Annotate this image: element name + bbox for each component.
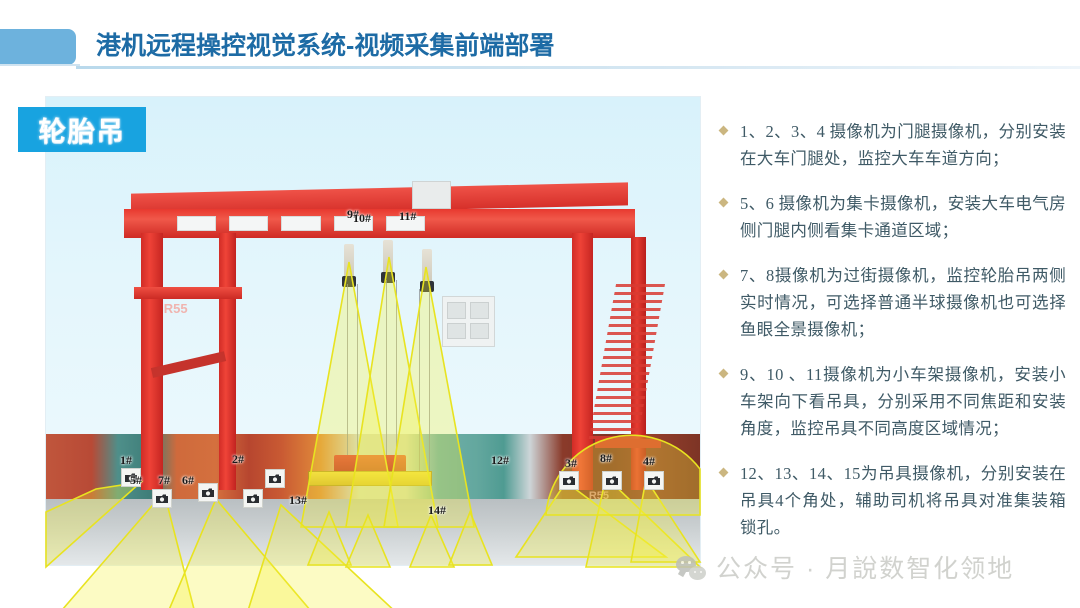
header-rule-left <box>0 64 80 66</box>
crane-machine-house <box>412 181 451 209</box>
page-title: 港机远程操控视觉系统-视频采集前端部署 <box>96 26 554 62</box>
list-item-text: 5、6 摄像机为集卡摄像机，安装大车电气房侧门腿内侧看集卡通道区域； <box>740 194 1066 240</box>
camera-description-list: 1、2、3、4 摄像机为门腿摄像机，分别安装在大车门腿处，监控大车车道方向； 5… <box>714 118 1066 559</box>
camera-label-3: 3# <box>565 456 577 471</box>
slide-header: 港机远程操控视觉系统-视频采集前端部署 <box>0 0 1080 80</box>
crane-photo-panel: R55 R55 <box>46 97 700 565</box>
bullet-diamond-icon <box>719 126 729 136</box>
equipment-type-badge: 轮胎吊 <box>18 107 146 152</box>
crane-marking-label-2: R55 <box>589 490 609 502</box>
list-item-text: 7、8摄像机为过街摄像机，监控轮胎吊两侧实时情况，可选择普通半球摄像机也可选择鱼… <box>740 266 1066 339</box>
camera-label-10: 10# <box>353 211 371 226</box>
slide-root: 港机远程操控视觉系统-视频采集前端部署 <box>0 0 1080 608</box>
watermark: 公众号 · 月說数智化领地 <box>676 549 1014 585</box>
camera-label-1: 1# <box>120 453 132 468</box>
camera-label-5: 5# <box>130 473 142 488</box>
list-item-text: 9、10 、11摄像机为小车架摄像机，安装小车架向下看吊具，分别采用不同焦距和安… <box>740 365 1066 438</box>
bullet-diamond-icon <box>719 198 729 208</box>
crane-marking-label: R55 <box>164 301 188 316</box>
girder-window <box>229 216 268 231</box>
list-item-text: 1、2、3、4 摄像机为门腿摄像机，分别安装在大车门腿处，监控大车车道方向； <box>740 122 1066 168</box>
wechat-icon <box>676 554 706 580</box>
camera-label-2: 2# <box>232 452 244 467</box>
girder-window <box>281 216 320 231</box>
crane-photo-scene: R55 R55 <box>46 97 700 565</box>
list-item: 9、10 、11摄像机为小车架摄像机，安装小车架向下看吊具，分别采用不同焦距和安… <box>714 361 1066 442</box>
camera-label-6: 6# <box>182 473 194 488</box>
trolley-camera-11 <box>422 249 432 283</box>
equipment-type-label: 轮胎吊 <box>39 110 126 149</box>
bullet-diamond-icon <box>719 369 729 379</box>
camera-label-13: 13# <box>289 493 307 508</box>
list-item: 5、6 摄像机为集卡摄像机，安装大车电气房侧门腿内侧看集卡通道区域； <box>714 190 1066 244</box>
spreader-beam <box>308 471 432 486</box>
header-accent-tab <box>0 29 76 65</box>
camera-label-14: 14# <box>428 503 446 518</box>
watermark-text: 公众号 · 月說数智化领地 <box>716 549 1014 585</box>
bullet-diamond-icon <box>719 468 729 478</box>
camera-label-4: 4# <box>643 454 655 469</box>
camera-label-7: 7# <box>158 473 170 488</box>
camera-label-12: 12# <box>491 453 509 468</box>
header-rule <box>76 66 1080 69</box>
camera-label-8: 8# <box>600 451 612 466</box>
girder-window <box>177 216 216 231</box>
bullet-diamond-icon <box>719 270 729 280</box>
camera-label-11: 11# <box>399 209 416 224</box>
crane-left-leg <box>141 233 163 490</box>
crane-electrical-house <box>442 296 496 347</box>
list-item: 12、13、14、15为吊具摄像机，分别安装在吊具4个角处，辅助司机将吊具对准集… <box>714 460 1066 541</box>
crane-platform <box>595 439 660 448</box>
crane-right-leg <box>572 233 593 490</box>
trolley-camera-10 <box>383 240 393 274</box>
list-item: 7、8摄像机为过街摄像机，监控轮胎吊两侧实时情况，可选择普通半球摄像机也可选择鱼… <box>714 262 1066 343</box>
trolley-camera-9 <box>344 244 354 278</box>
list-item: 1、2、3、4 摄像机为门腿摄像机，分别安装在大车门腿处，监控大车车道方向； <box>714 118 1066 172</box>
list-item-text: 12、13、14、15为吊具摄像机，分别安装在吊具4个角处，辅助司机将吊具对准集… <box>740 464 1066 537</box>
quay-ground <box>46 499 700 565</box>
crane-portal-beam <box>134 287 242 299</box>
